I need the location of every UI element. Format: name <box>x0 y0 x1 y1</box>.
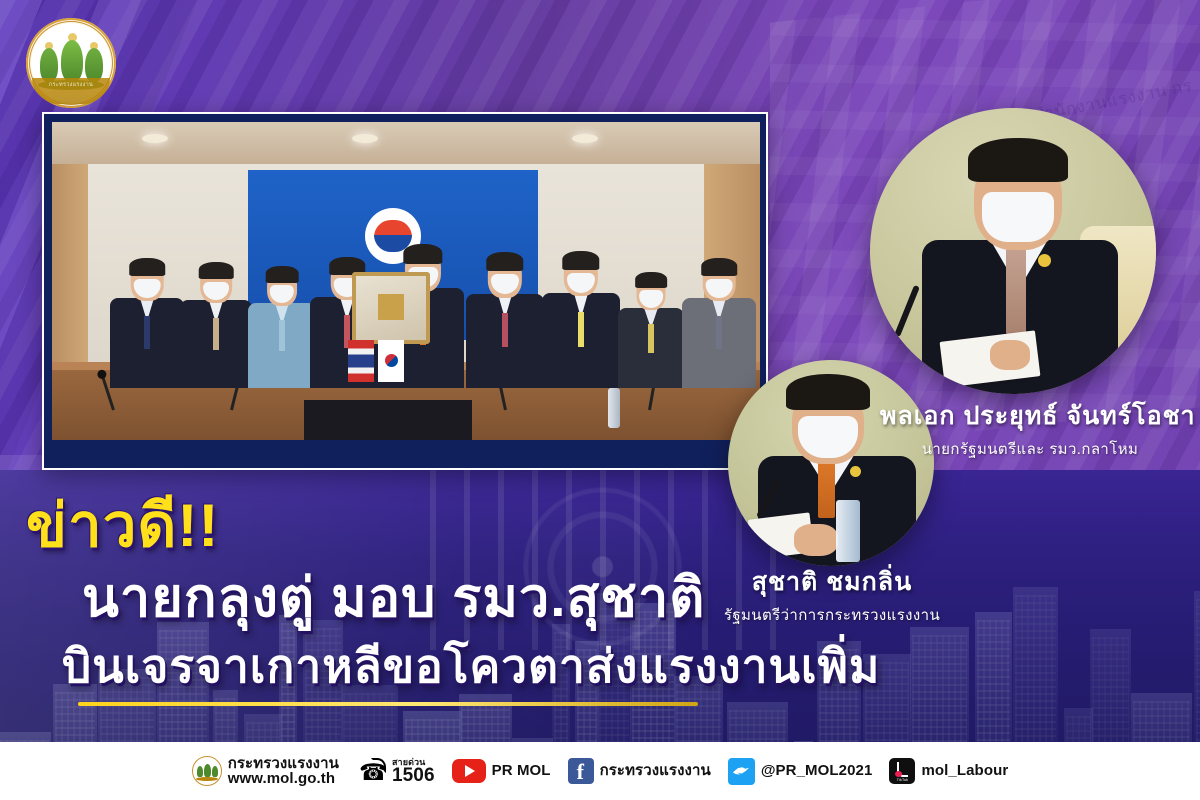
tiktok-wordmark: TikTok <box>889 778 915 782</box>
portrait-lapel-pin <box>850 466 861 477</box>
labour-minister-role: รัฐมนตรีว่าการกระทรวงแรงงาน <box>672 603 992 627</box>
footer-website-url: www.mol.go.th <box>228 771 339 786</box>
photo-person-tie <box>648 324 654 353</box>
photo-podium <box>304 400 472 440</box>
headline-underline <box>78 702 698 706</box>
youtube-icon <box>452 759 486 783</box>
portrait-hair <box>786 374 870 410</box>
portrait-labour-minister <box>728 360 934 566</box>
photo-person <box>542 230 620 388</box>
photo-person <box>618 254 684 388</box>
photo-ceiling-light <box>572 134 598 143</box>
tiktok-icon: TikTok <box>889 758 915 784</box>
facebook-icon <box>568 758 594 784</box>
portrait-face-mask <box>982 192 1054 242</box>
portrait-microphone <box>894 285 920 337</box>
photo-person <box>110 238 184 388</box>
footer-item-twitter[interactable]: @PR_MOL2021 <box>728 758 873 785</box>
portrait-prime-minister <box>870 108 1156 394</box>
photo-ceiling-light <box>142 134 168 143</box>
photo-person-hair <box>562 251 599 270</box>
photo-person-tie <box>279 320 285 351</box>
prime-minister-name: พลเอก ประยุทธ์ จันทร์โอชา <box>880 396 1180 436</box>
footer-website-text: กระทรวงแรงงาน www.mol.go.th <box>228 756 339 787</box>
footer-hotline-number: 1506 <box>392 767 435 785</box>
footer-bar: กระทรวงแรงงาน www.mol.go.th ☎ สายด่วน 15… <box>0 742 1200 800</box>
ministry-of-labour-emblem-icon: กระทรวงแรงงาน <box>26 18 116 108</box>
photo-person-tie <box>578 312 584 347</box>
photo-person-hair <box>486 252 523 271</box>
photo-desk-flags <box>348 326 418 382</box>
main-photo-frame: 고용노동부 <box>42 112 768 470</box>
photo-ceiling-light <box>352 134 378 143</box>
photo-person <box>466 232 544 388</box>
portrait-hand <box>794 524 838 556</box>
photo-person-hair <box>199 262 234 279</box>
photo-person-hair <box>403 244 442 264</box>
twitter-icon <box>728 758 755 785</box>
phone-hotline-icon: ☎ <box>356 756 386 786</box>
photo-person-hair <box>266 266 299 282</box>
ministry-seal-icon <box>192 756 222 786</box>
portrait-tie <box>1006 238 1026 334</box>
footer-item-youtube[interactable]: PR MOL <box>452 759 551 783</box>
emblem-figure-center <box>61 40 83 82</box>
portrait-tie <box>818 456 835 518</box>
prime-minister-role: นายกรัฐมนตรีและ รมว.กลาโหม <box>880 437 1180 461</box>
portrait-hand <box>990 340 1030 370</box>
footer-hotline-text: สายด่วน 1506 <box>392 757 435 785</box>
portrait-water-bottle <box>836 500 860 562</box>
footer-item-website[interactable]: กระทรวงแรงงาน www.mol.go.th <box>192 756 339 787</box>
photo-ceiling <box>52 122 760 164</box>
footer-twitter-label: @PR_MOL2021 <box>761 763 873 778</box>
main-photo: 고용노동부 <box>52 122 760 440</box>
poster-root: สำนักงานรัฐ สำนักงานแรงงาน กระทรวงแรงงาน… <box>0 0 1200 800</box>
thailand-flag-icon <box>348 340 374 382</box>
south-korea-flag-icon <box>378 340 404 382</box>
photo-person <box>682 238 756 388</box>
photo-person-tie <box>716 316 722 349</box>
footer-facebook-label: กระทรวงแรงงาน <box>600 763 711 778</box>
photo-water-bottle <box>608 388 620 428</box>
caption-prime-minister: พลเอก ประยุทธ์ จันทร์โอชา นายกรัฐมนตรีแล… <box>880 396 1180 461</box>
footer-item-tiktok[interactable]: TikTok mol_Labour <box>889 758 1008 784</box>
photo-person-hair <box>701 258 737 276</box>
emblem-figure-right <box>85 48 103 82</box>
footer-tiktok-label: mol_Labour <box>921 763 1008 778</box>
footer-youtube-label: PR MOL <box>492 763 551 778</box>
portrait-hair <box>968 138 1068 182</box>
photo-person-tie <box>144 316 150 349</box>
photo-person-hair <box>129 258 165 276</box>
photo-person-tie <box>502 313 508 347</box>
photo-person-hair <box>635 272 667 288</box>
caption-labour-minister: สุชาติ ชมกลิ่น รัฐมนตรีว่าการกระทรวงแรงง… <box>672 562 992 627</box>
emblem-arc-text: กระทรวงแรงงาน <box>32 81 110 89</box>
footer-ministry-name: กระทรวงแรงงาน <box>228 756 339 771</box>
emblem-figure-left <box>40 48 58 82</box>
footer-item-facebook[interactable]: กระทรวงแรงงาน <box>568 758 711 784</box>
labour-minister-name: สุชาติ ชมกลิ่น <box>672 562 992 602</box>
photo-person-tie <box>213 318 219 350</box>
photo-person <box>180 242 252 388</box>
portrait-lapel-pin <box>1038 254 1051 267</box>
footer-item-hotline[interactable]: ☎ สายด่วน 1506 <box>356 756 435 786</box>
headline-line-3: บินเจรจาเกาหลีขอโควตาส่งแรงงานเพิ่ม <box>62 630 880 703</box>
headline-line-2: นายกลุงตู่ มอบ รมว.สุชาติ <box>82 554 705 640</box>
photo-person <box>248 246 316 388</box>
